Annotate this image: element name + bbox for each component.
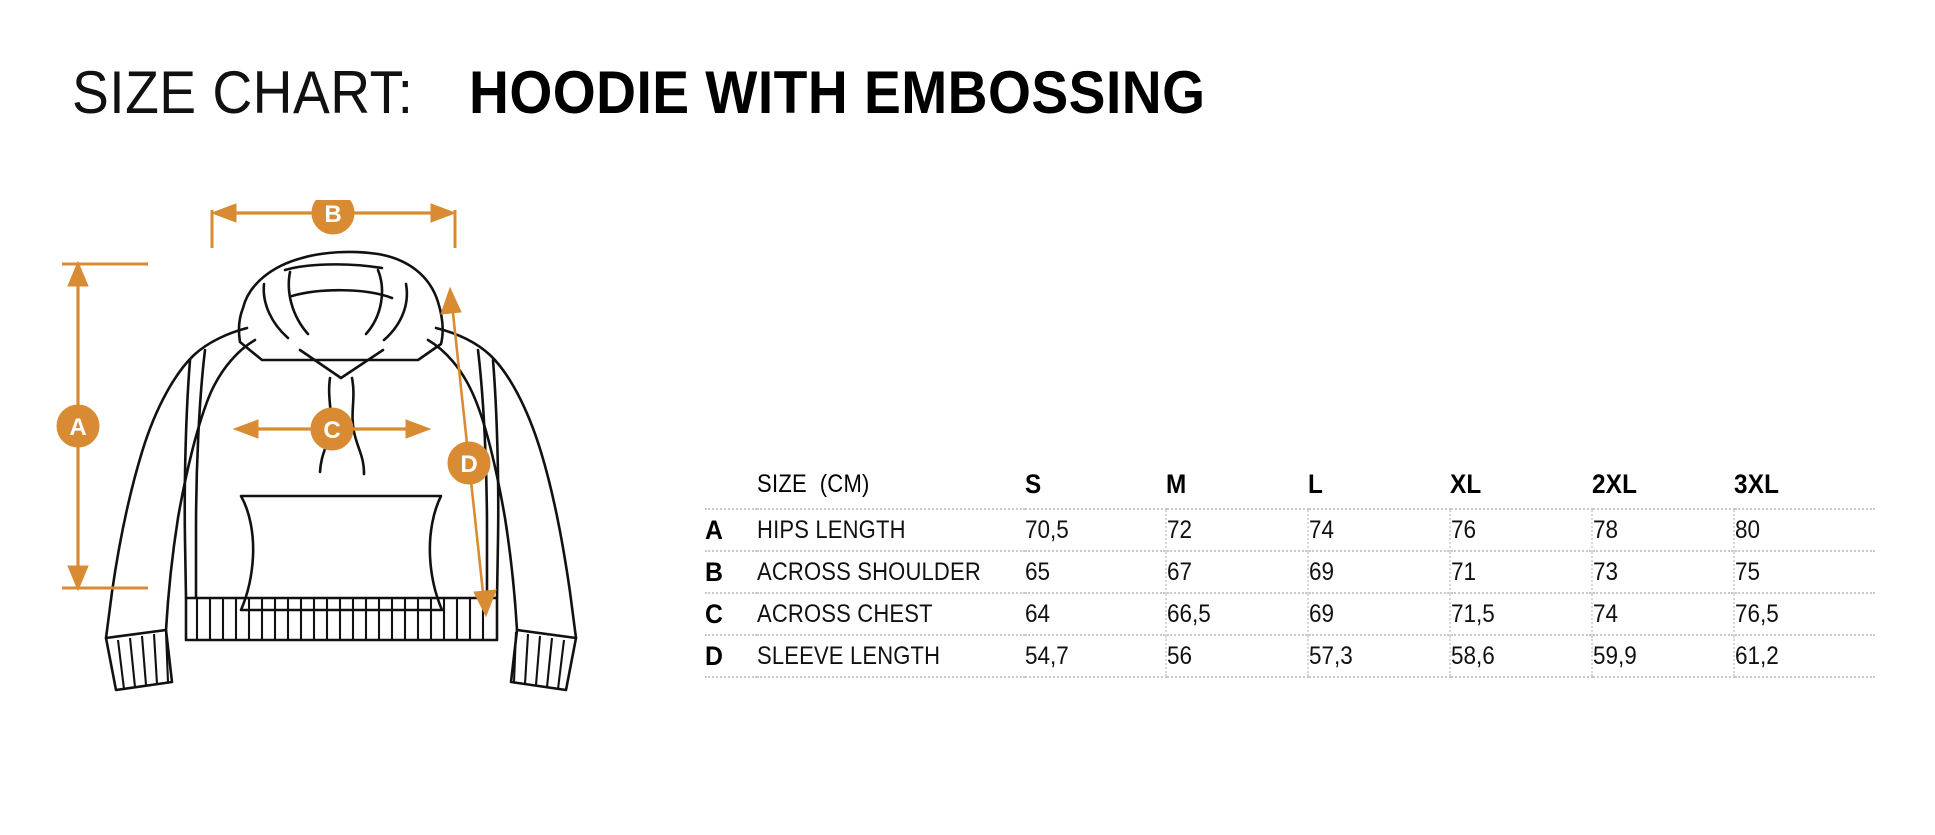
cell-a-3xl: 80 xyxy=(1734,509,1875,551)
cell-c-2xl: 74 xyxy=(1592,593,1734,635)
table-header-row: SIZE (CM) S M L XL 2XL 3XL xyxy=(705,460,1875,509)
page-title-main: HOODIE WITH EMBOSSING xyxy=(469,58,1205,127)
cell-a-2xl: 78 xyxy=(1592,509,1734,551)
page-title: SIZE CHART: HOODIE WITH EMBOSSING xyxy=(72,58,1270,127)
row-letter-c: C xyxy=(705,593,757,635)
cell-c-l: 69 xyxy=(1308,593,1450,635)
dimension-a: A xyxy=(57,262,148,590)
cell-a-xl: 76 xyxy=(1450,509,1592,551)
header-size-s: S xyxy=(1025,460,1166,509)
cell-d-xl: 58,6 xyxy=(1450,635,1592,677)
cell-b-xl: 71 xyxy=(1450,551,1592,593)
marker-b-label: B xyxy=(324,201,341,228)
header-size-label: SIZE (CM) xyxy=(757,460,1025,509)
table-row: A HIPS LENGTH 70,5 72 74 76 78 80 xyxy=(705,509,1875,551)
header-size-l: L xyxy=(1308,460,1450,509)
cell-d-2xl: 59,9 xyxy=(1592,635,1734,677)
row-name-hips-length: HIPS LENGTH xyxy=(757,509,1025,551)
row-letter-b: B xyxy=(705,551,757,593)
cell-d-l: 57,3 xyxy=(1308,635,1450,677)
cell-c-m: 66,5 xyxy=(1166,593,1308,635)
page-title-prefix: SIZE CHART: xyxy=(72,58,413,127)
cell-b-3xl: 75 xyxy=(1734,551,1875,593)
marker-d-label: D xyxy=(460,451,477,478)
cell-b-m: 67 xyxy=(1166,551,1308,593)
cell-a-s: 70,5 xyxy=(1025,509,1166,551)
table-header: SIZE (CM) S M L XL 2XL 3XL xyxy=(705,460,1875,509)
row-letter-d: D xyxy=(705,635,757,677)
table-row: D SLEEVE LENGTH 54,7 56 57,3 58,6 59,9 6… xyxy=(705,635,1875,677)
header-size-2xl: 2XL xyxy=(1592,460,1734,509)
table-body: A HIPS LENGTH 70,5 72 74 76 78 80 xyxy=(705,509,1875,677)
cell-a-l: 74 xyxy=(1308,509,1450,551)
marker-a-label: A xyxy=(69,414,86,441)
row-letter-a: A xyxy=(705,509,757,551)
marker-c-label: C xyxy=(323,417,340,444)
header-letter-col xyxy=(705,460,757,509)
cell-b-s: 65 xyxy=(1025,551,1166,593)
cell-d-m: 56 xyxy=(1166,635,1308,677)
cell-c-s: 64 xyxy=(1025,593,1166,635)
cell-d-3xl: 61,2 xyxy=(1734,635,1875,677)
row-name-across-shoulder: ACROSS SHOULDER xyxy=(757,551,1025,593)
cell-a-m: 72 xyxy=(1166,509,1308,551)
header-size-xl: XL xyxy=(1450,460,1592,509)
header-size-m: M xyxy=(1166,460,1308,509)
size-chart-table: SIZE (CM) S M L XL 2XL 3XL A xyxy=(705,460,1875,678)
row-name-sleeve-length: SLEEVE LENGTH xyxy=(757,635,1025,677)
cell-c-xl: 71,5 xyxy=(1450,593,1592,635)
header-size-3xl: 3XL xyxy=(1734,460,1875,509)
row-name-across-chest: ACROSS CHEST xyxy=(757,593,1025,635)
table-row: C ACROSS CHEST 64 66,5 69 71,5 74 76,5 xyxy=(705,593,1875,635)
dimension-b: B xyxy=(212,200,455,248)
cell-b-l: 69 xyxy=(1308,551,1450,593)
hoodie-illustration: B A C D xyxy=(0,200,700,820)
cell-c-3xl: 76,5 xyxy=(1734,593,1875,635)
cell-b-2xl: 73 xyxy=(1592,551,1734,593)
table-row: B ACROSS SHOULDER 65 67 69 71 73 75 xyxy=(705,551,1875,593)
dimension-c: C xyxy=(234,408,430,450)
cell-d-s: 54,7 xyxy=(1025,635,1166,677)
